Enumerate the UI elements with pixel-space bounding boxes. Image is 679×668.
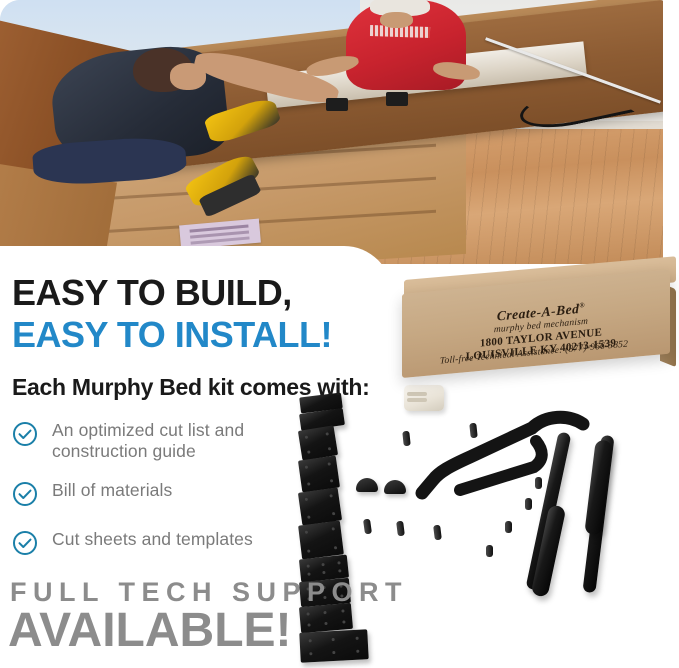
poster-root: Create-A-Bed® murphy bed mechanism 1800 … [0,0,679,668]
pivot-plate-4 [299,629,368,663]
list-item-label: Bill of materials [52,480,172,501]
list-item-label: An optimized cut list andconstruction gu… [52,420,244,462]
list-item: Cut sheets and templates [12,529,342,556]
check-circle-icon [12,481,38,507]
check-circle-icon [12,530,38,556]
list-item: An optimized cut list andconstruction gu… [12,420,342,462]
slogan-line-2: AVAILABLE! [8,604,292,658]
registered-mark: ® [579,301,585,310]
pivot-stud-2 [525,498,532,510]
list-item: Bill of materials [12,480,342,507]
bracket-stud-upper-a [402,431,411,447]
hinge-block-1 [386,92,407,105]
pivot-stud-3 [505,521,512,533]
headline-line-2: EASY TO INSTALL! [12,314,332,356]
hinge-block-2 [326,98,347,111]
lift-bar-icon [300,395,679,600]
list-item-label: Cut sheets and templates [52,529,253,550]
helper-face [380,12,413,28]
product-box: Create-A-Bed® murphy bed mechanism 1800 … [398,278,678,398]
list-item-line-1: An optimized cut list and [52,420,244,440]
pivot-stud-1 [535,477,542,489]
subheadline: Each Murphy Bed kit comes with: [12,374,370,401]
pivot-stud-4 [486,545,493,557]
hardware-parts-group [300,395,679,600]
hero-photo [0,0,666,264]
features-checklist: An optimized cut list andconstruction gu… [12,420,342,574]
headline-line-1: EASY TO BUILD, [12,272,332,314]
list-item-line-2: construction guide [52,441,196,461]
check-circle-icon [12,421,38,447]
bracket-stud-upper-b [469,423,478,439]
headline-block: EASY TO BUILD, EASY TO INSTALL! [12,272,332,356]
